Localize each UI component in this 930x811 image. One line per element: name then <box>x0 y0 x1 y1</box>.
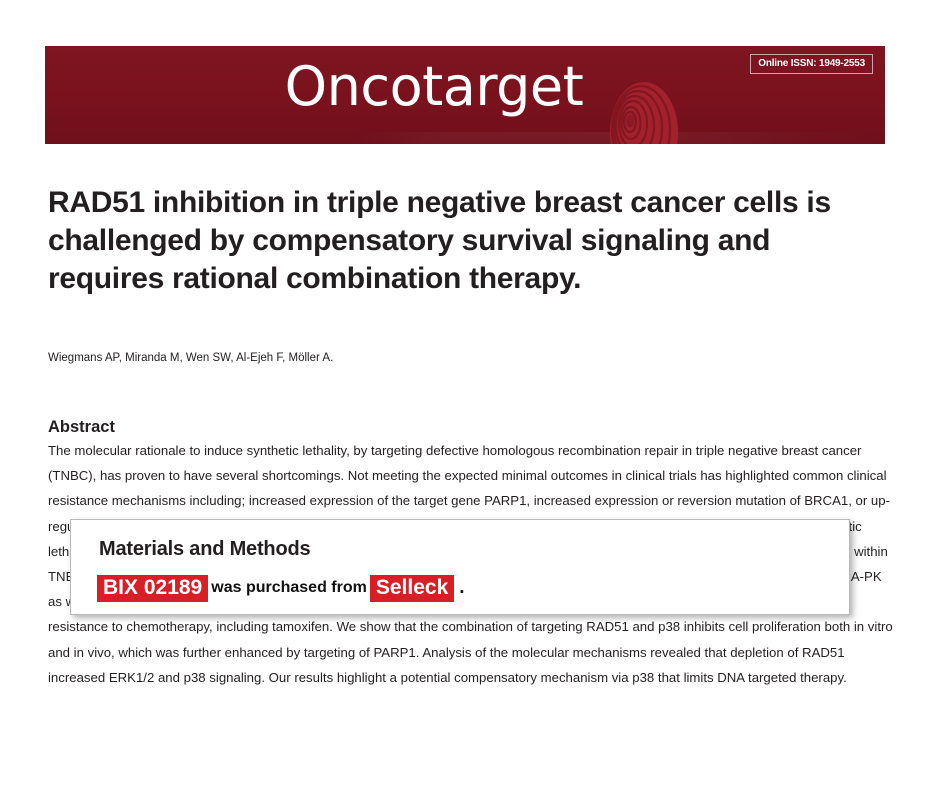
popup-period: . <box>454 575 464 601</box>
popup-sentence: BIX 02189was purchased fromSelleck. <box>97 575 465 602</box>
issn-badge: Online ISSN: 1949-2553 <box>750 54 873 74</box>
article-page: Oncotarget Online ISSN: 1949-2553 RAD51 … <box>0 0 930 811</box>
vendor-name-highlight[interactable]: Selleck <box>370 575 454 602</box>
page-title: RAD51 inhibition in triple negative brea… <box>48 184 893 297</box>
journal-banner: Oncotarget Online ISSN: 1949-2553 <box>45 46 885 144</box>
author-list: Wiegmans AP, Miranda M, Wen SW, Al-Ejeh … <box>48 351 893 366</box>
popup-heading: Materials and Methods <box>99 538 310 561</box>
materials-and-methods-popup[interactable]: Materials and Methods BIX 02189was purch… <box>70 519 850 615</box>
abstract-heading: Abstract <box>48 418 115 437</box>
compound-name-highlight[interactable]: BIX 02189 <box>97 575 208 602</box>
banner-sheen <box>45 132 885 144</box>
popup-middle-text: was purchased from <box>208 575 370 601</box>
